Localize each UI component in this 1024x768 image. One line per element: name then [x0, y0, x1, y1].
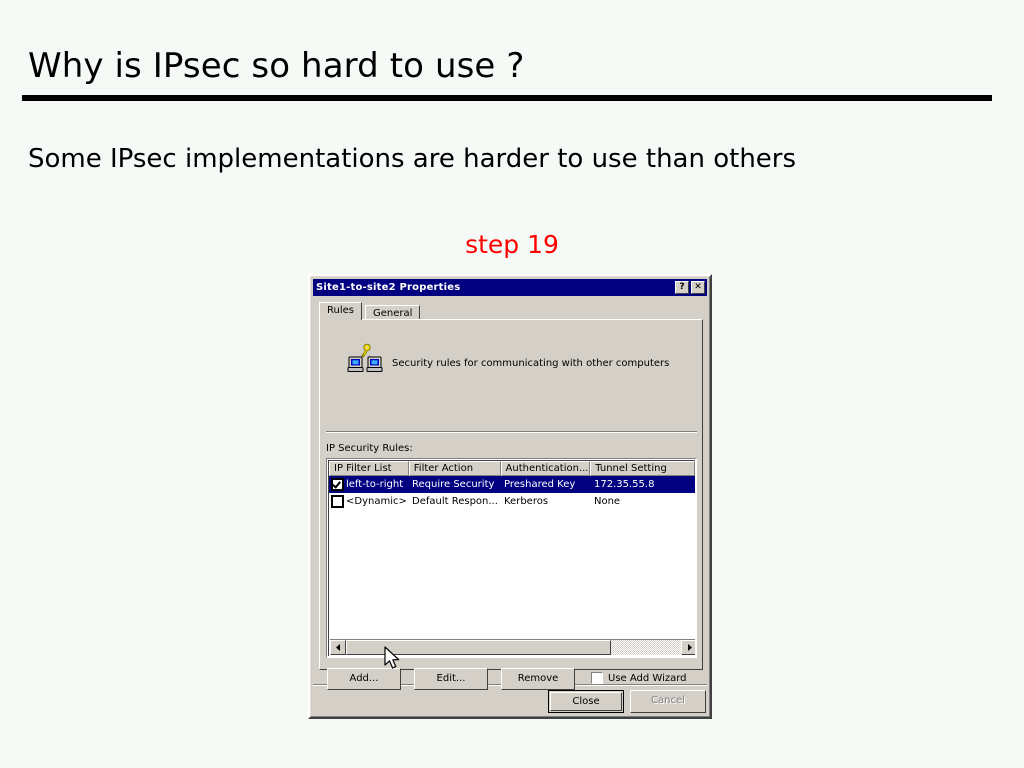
title-underline-rule [22, 95, 992, 101]
close-icon[interactable]: ✕ [691, 281, 705, 294]
checkbox-box[interactable] [591, 672, 603, 684]
use-add-wizard-label: Use Add Wizard [608, 673, 687, 684]
scroll-right-arrow-icon[interactable] [681, 640, 695, 655]
row-checkbox[interactable] [331, 495, 344, 508]
section-divider [326, 431, 697, 433]
column-header-tunnel-setting[interactable]: Tunnel Setting [590, 461, 695, 476]
ip-security-rules-label: IP Security Rules: [326, 443, 413, 454]
listview-header-row: IP Filter List Filter Action Authenticat… [329, 461, 695, 476]
cancel-button: Cancel [630, 690, 706, 713]
security-rules-description: Security rules for communicating with ot… [392, 358, 669, 369]
page-title: Why is IPsec so hard to use ? [28, 46, 524, 86]
scroll-left-arrow-icon[interactable] [330, 640, 346, 655]
cell-tunnel-setting: None [590, 493, 695, 510]
use-add-wizard-checkbox[interactable]: Use Add Wizard [591, 672, 687, 684]
tab-general[interactable]: General [365, 305, 420, 320]
cell-filter-action: Require Security [408, 476, 500, 493]
tab-rules[interactable]: Rules [319, 302, 362, 320]
cell-filter-action: Default Respon... [408, 493, 500, 510]
close-button-label: Close [550, 692, 622, 711]
ip-security-rules-listview[interactable]: IP Filter List Filter Action Authenticat… [326, 458, 697, 658]
properties-dialog: Site1-to-site2 Properties ? ✕ Rules Gene… [308, 274, 712, 719]
tab-page-rules: Security rules for communicating with ot… [319, 319, 703, 670]
dialog-title-text: Site1-to-site2 Properties [316, 282, 460, 293]
add-button[interactable]: Add... [327, 668, 401, 690]
help-icon[interactable]: ? [675, 281, 689, 294]
slide-subtitle: Some IPsec implementations are harder to… [28, 144, 796, 174]
cell-ip-filter-list: left-to-right [346, 476, 408, 493]
close-button[interactable]: Close [548, 690, 624, 713]
scrollbar-track[interactable] [346, 640, 681, 655]
cell-tunnel-setting: 172.35.55.8 [590, 476, 695, 493]
step-label: step 19 [0, 230, 1024, 259]
remove-button[interactable]: Remove [501, 668, 575, 690]
cell-authentication: Preshared Key [500, 476, 590, 493]
cell-authentication: Kerberos [500, 493, 590, 510]
edit-button[interactable]: Edit... [414, 668, 488, 690]
security-rules-icon [347, 343, 383, 377]
column-header-ip-filter-list[interactable]: IP Filter List [329, 461, 409, 476]
table-row[interactable]: left-to-right Require Security Preshared… [329, 476, 695, 493]
dialog-titlebar[interactable]: Site1-to-site2 Properties ? ✕ [313, 279, 707, 296]
column-header-filter-action[interactable]: Filter Action [409, 461, 501, 476]
scrollbar-thumb[interactable] [346, 640, 611, 655]
row-checkbox[interactable] [331, 478, 344, 491]
table-row[interactable]: <Dynamic> Default Respon... Kerberos Non… [329, 493, 695, 510]
listview-horizontal-scrollbar[interactable] [330, 639, 695, 655]
cell-ip-filter-list: <Dynamic> [346, 493, 408, 510]
column-header-authentication[interactable]: Authentication... [501, 461, 591, 476]
